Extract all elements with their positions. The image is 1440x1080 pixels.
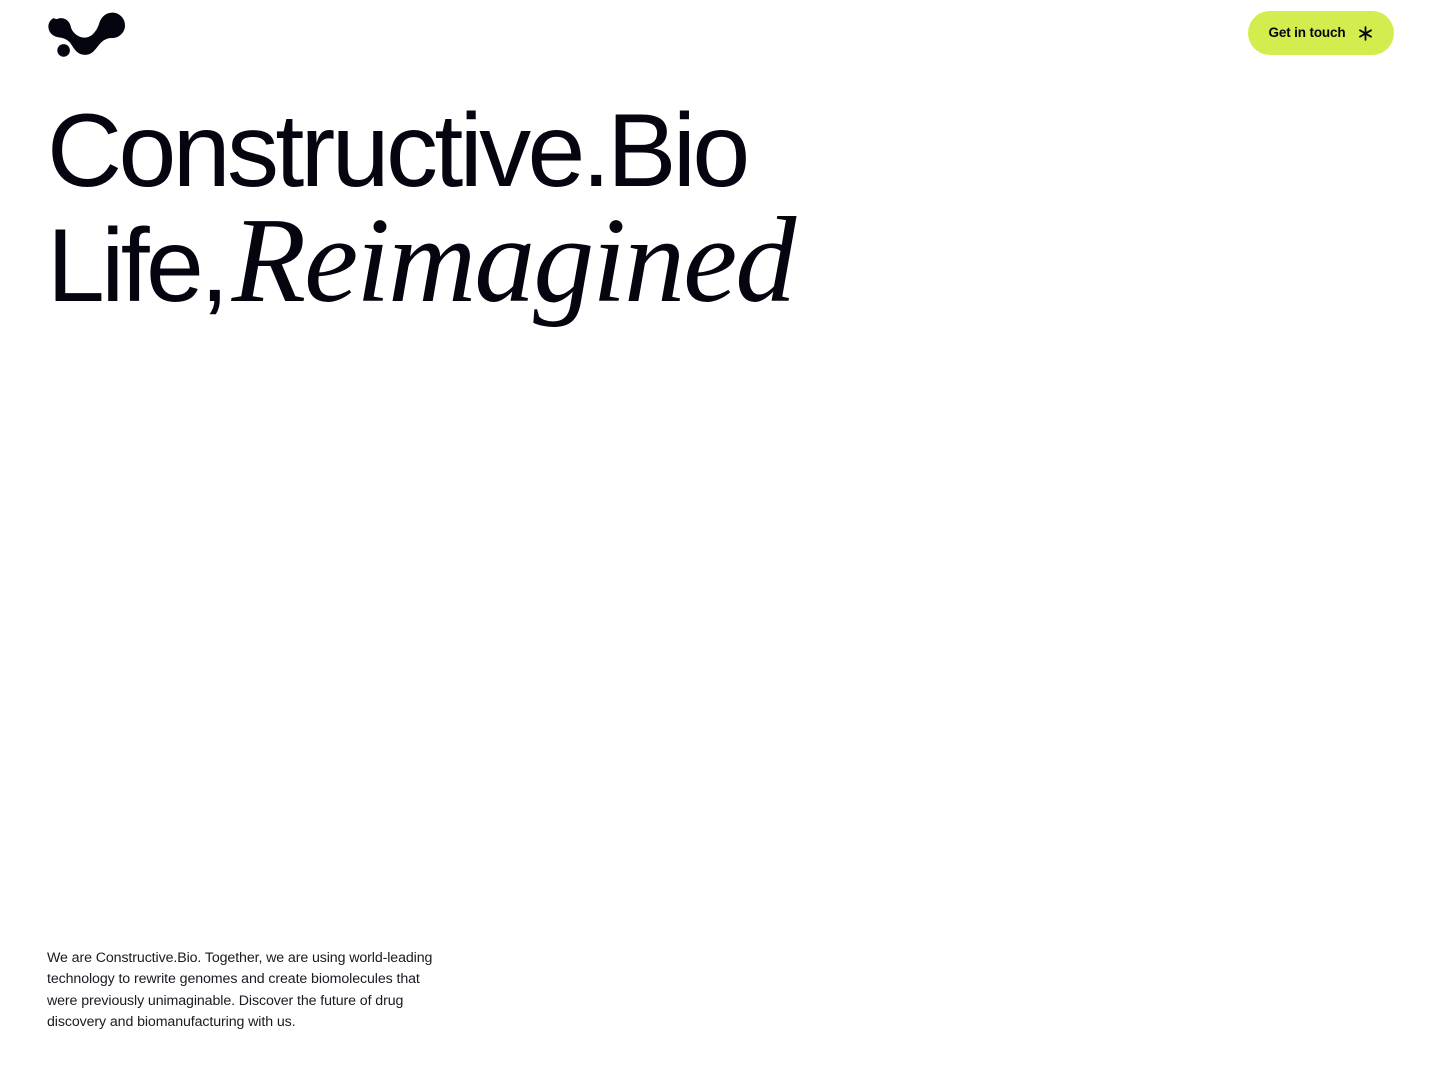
headline-italic-word: Reimagined (226, 193, 795, 328)
headline-line-2: Life,Reimagined (47, 206, 1047, 315)
intro-paragraph: We are Constructive.Bio. Together, we ar… (47, 948, 437, 1033)
site-header: Get in touch (0, 0, 1440, 66)
constructive-bio-blob-logo-icon[interactable] (44, 11, 126, 59)
asterisk-icon (1358, 26, 1373, 41)
headline-sans-word: Life, (47, 208, 226, 324)
page-title: Constructive.Bio Life,Reimagined (47, 97, 1047, 315)
get-in-touch-button[interactable]: Get in touch (1248, 11, 1394, 55)
get-in-touch-label: Get in touch (1269, 26, 1346, 40)
headline-line-1: Constructive.Bio (47, 97, 1047, 206)
